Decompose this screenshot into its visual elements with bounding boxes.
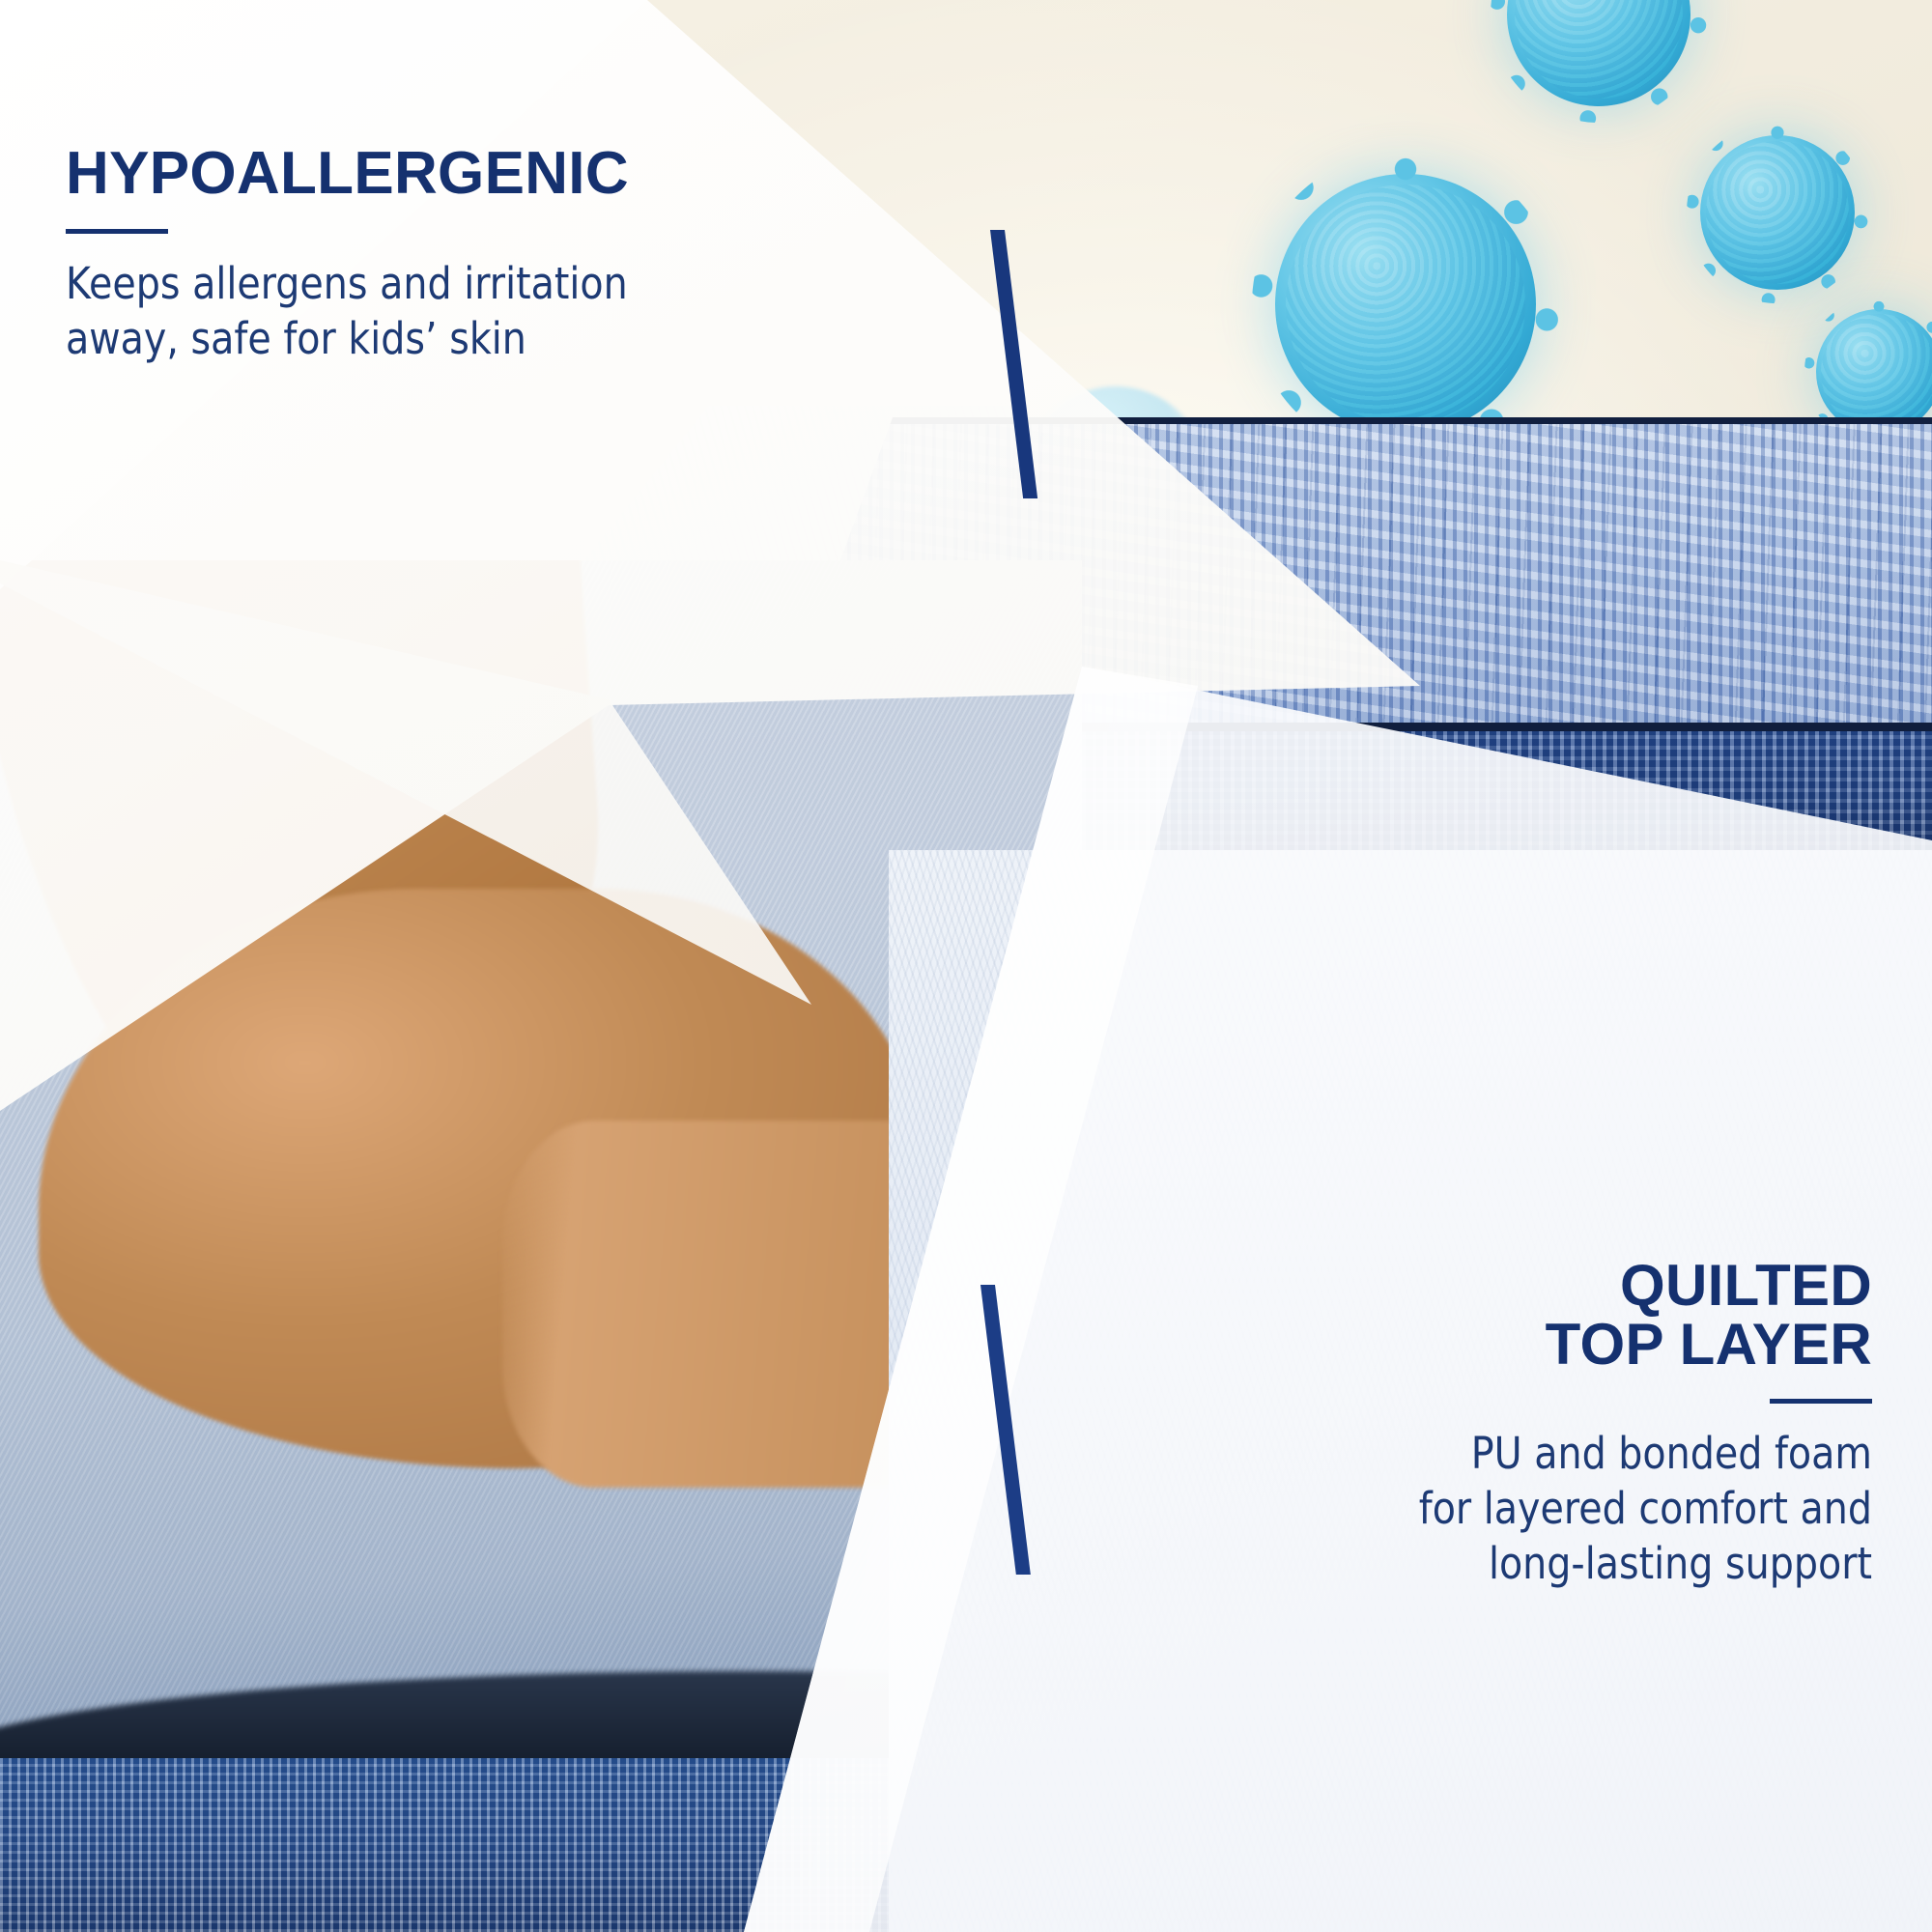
callout-quilted-heading-line-1: QUILTED (1080, 1256, 1872, 1315)
callout-quilted-body-line-3: long-lasting support (1175, 1537, 1872, 1592)
callout-hypoallergenic: HYPOALLERGENIC Keeps allergens and irrit… (66, 143, 800, 367)
callout-hypoallergenic-divider (66, 229, 168, 234)
callout-quilted-heading-line-2: TOP LAYER (1080, 1315, 1872, 1374)
callout-hypoallergenic-body: Keeps allergens and irritation away, saf… (66, 257, 800, 366)
callout-quilted-body: PU and bonded foam for layered comfort a… (1080, 1427, 1872, 1591)
virus-particle-icon (1816, 309, 1932, 435)
virus-particle-icon (1507, 0, 1690, 106)
callout-quilted-heading: QUILTED TOP LAYER (1080, 1256, 1872, 1374)
callout-quilted-body-line-2: for layered comfort and (1175, 1482, 1872, 1537)
virus-particle-icon (1700, 135, 1855, 290)
callout-hypoallergenic-body-line-2: away, safe for kids’ skin (66, 312, 712, 367)
callout-quilted-divider (1770, 1399, 1872, 1404)
callout-hypoallergenic-heading: HYPOALLERGENIC (66, 143, 800, 204)
callout-hypoallergenic-body-line-1: Keeps allergens and irritation (66, 257, 712, 312)
infographic-canvas: HYPOALLERGENIC Keeps allergens and irrit… (0, 0, 1932, 1932)
callout-quilted-top-layer: QUILTED TOP LAYER PU and bonded foam for… (1080, 1256, 1872, 1591)
callout-quilted-body-line-1: PU and bonded foam (1175, 1427, 1872, 1482)
virus-particle-icon (1275, 174, 1536, 435)
